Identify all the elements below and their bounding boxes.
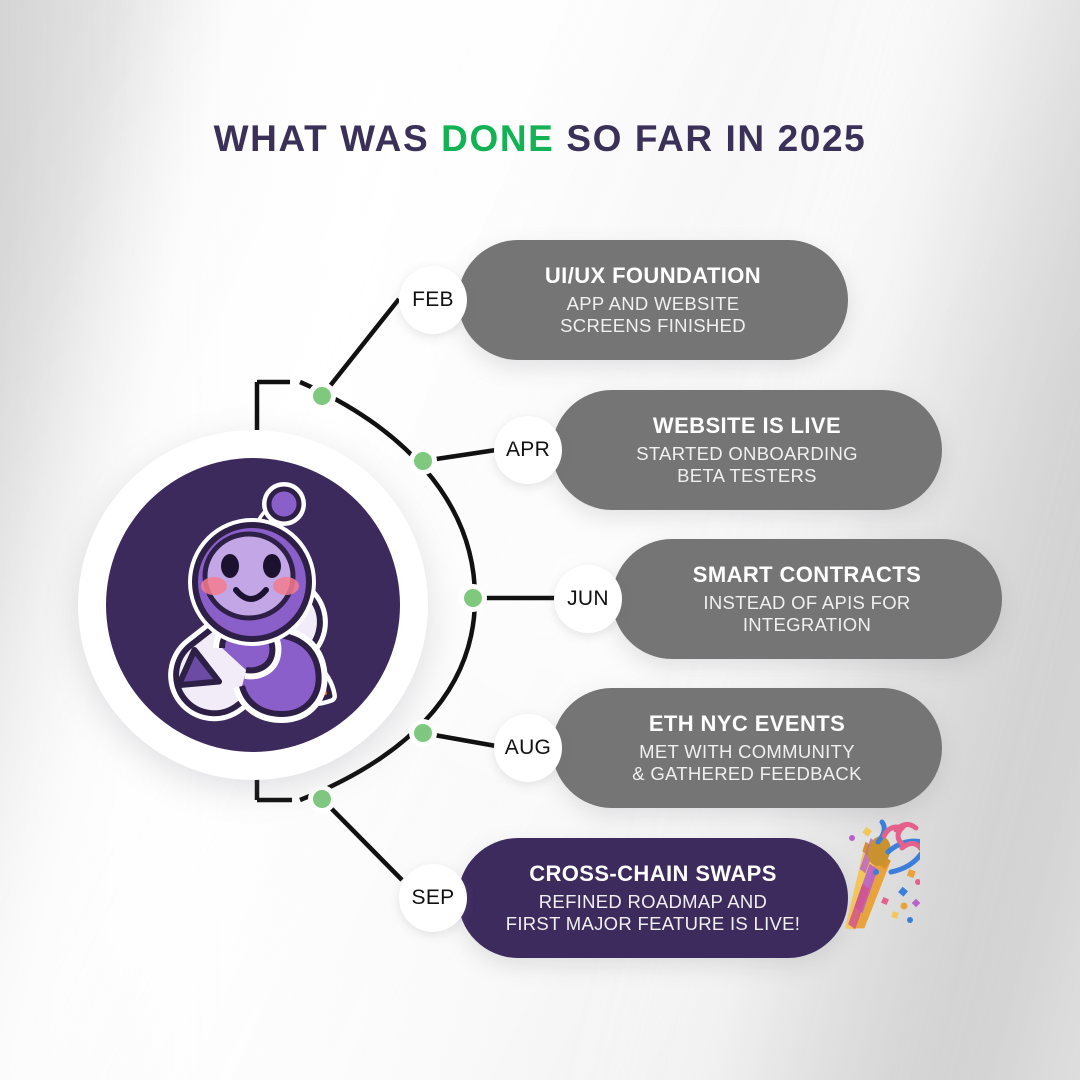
milestone-month-apr[interactable]: APR bbox=[494, 416, 562, 484]
milestone-desc: REFINED ROADMAP AND FIRST MAJOR FEATURE … bbox=[506, 891, 801, 935]
infographic-poster: WHAT WAS DONE SO FAR IN 2025 bbox=[0, 0, 1080, 1080]
milestone-card-aug[interactable]: ETH NYC EVENTS MET WITH COMMUNITY & GATH… bbox=[552, 688, 942, 808]
rocket-alien-mascot-icon bbox=[106, 458, 400, 752]
month-label: SEP bbox=[412, 886, 455, 910]
brand-logo-disc bbox=[106, 458, 400, 752]
milestone-desc: STARTED ONBOARDING BETA TESTERS bbox=[636, 443, 858, 487]
milestone-card-apr[interactable]: WEBSITE IS LIVE STARTED ONBOARDING BETA … bbox=[552, 390, 942, 510]
milestone-title: ETH NYC EVENTS bbox=[649, 711, 845, 736]
milestone-desc: MET WITH COMMUNITY & GATHERED FEEDBACK bbox=[632, 741, 861, 785]
milestone-month-aug[interactable]: AUG bbox=[494, 714, 562, 782]
milestone-desc: APP AND WEBSITE SCREENS FINISHED bbox=[560, 293, 746, 337]
milestone-month-feb[interactable]: FEB bbox=[399, 266, 467, 334]
milestone-card-jun[interactable]: SMART CONTRACTS INSTEAD OF APIS FOR INTE… bbox=[612, 539, 1002, 659]
month-label: FEB bbox=[412, 288, 454, 312]
title-text-pre: WHAT WAS bbox=[214, 118, 441, 159]
milestone-title: SMART CONTRACTS bbox=[693, 562, 921, 587]
milestone-month-jun[interactable]: JUN bbox=[554, 565, 622, 633]
brand-logo-badge bbox=[78, 430, 428, 780]
milestone-desc: INSTEAD OF APIS FOR INTEGRATION bbox=[703, 592, 910, 636]
milestone-card-sep[interactable]: CROSS-CHAIN SWAPS REFINED ROADMAP AND FI… bbox=[458, 838, 848, 958]
month-label: JUN bbox=[567, 587, 609, 611]
page-title: WHAT WAS DONE SO FAR IN 2025 bbox=[0, 118, 1080, 160]
title-text-post: SO FAR IN 2025 bbox=[554, 118, 866, 159]
month-label: APR bbox=[506, 438, 550, 462]
milestone-title: UI/UX FOUNDATION bbox=[545, 263, 761, 288]
party-popper-icon bbox=[792, 812, 920, 940]
milestone-card-feb[interactable]: UI/UX FOUNDATION APP AND WEBSITE SCREENS… bbox=[458, 240, 848, 360]
milestone-title: CROSS-CHAIN SWAPS bbox=[529, 861, 777, 886]
month-label: AUG bbox=[505, 736, 551, 760]
milestone-month-sep[interactable]: SEP bbox=[399, 864, 467, 932]
title-text-highlight: DONE bbox=[441, 118, 554, 159]
milestone-title: WEBSITE IS LIVE bbox=[653, 413, 841, 438]
